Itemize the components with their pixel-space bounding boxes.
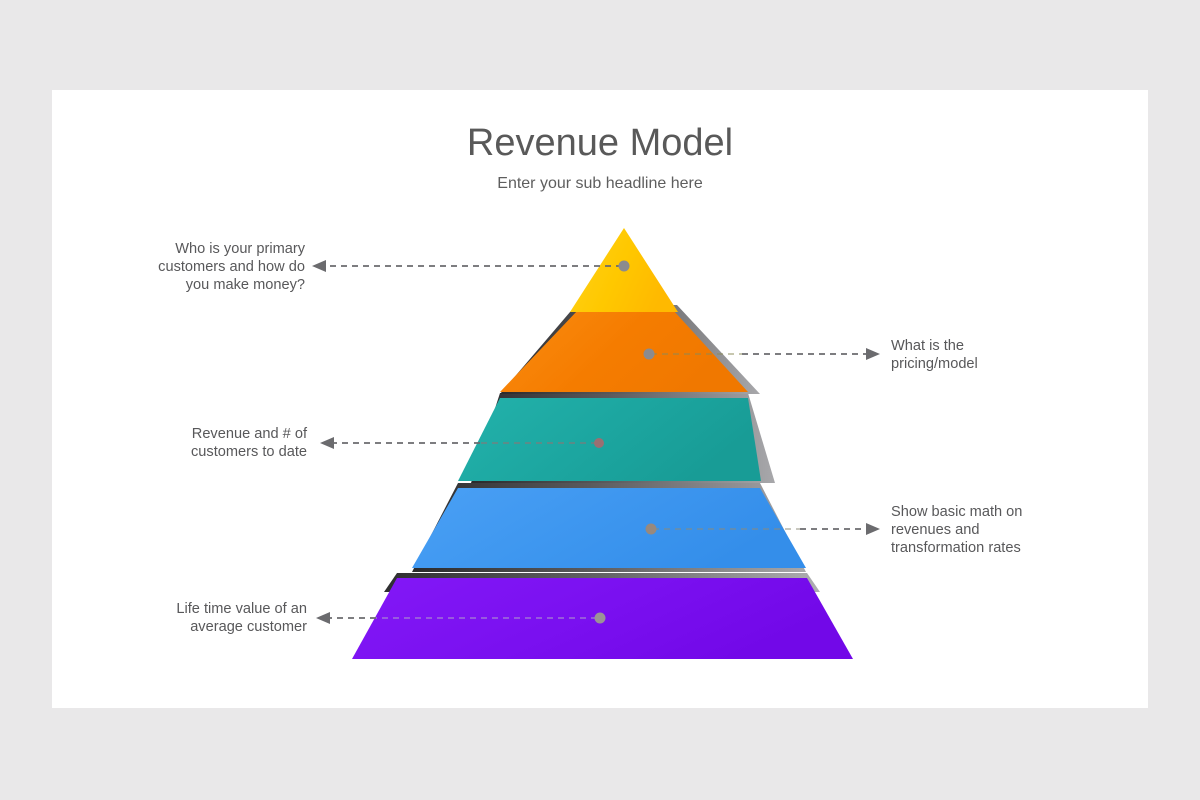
page-subtitle: Enter your sub headline here xyxy=(497,175,703,192)
callout-label-level-4: Show basic math on revenues and transfor… xyxy=(891,504,1022,556)
arrow-head-level-5 xyxy=(316,612,330,624)
callout-label-level-1: Who is your primary customers and how do… xyxy=(158,241,306,293)
arrow-head-level-2 xyxy=(866,348,880,360)
node-dot-level-1[interactable] xyxy=(619,261,630,272)
callout-label-level-5: Life time value of an average customer xyxy=(176,601,307,635)
callout-label-level-3: Revenue and # of customers to date xyxy=(191,426,308,460)
node-dot-level-3[interactable] xyxy=(594,438,604,448)
callout-level-3-line-1: Revenue and # of xyxy=(192,426,308,442)
revenue-model-diagram: Revenue Model Enter your sub headline he… xyxy=(0,0,1200,800)
arrow-head-level-3 xyxy=(320,437,334,449)
node-dot-level-2[interactable] xyxy=(644,349,655,360)
pyramid-level-4[interactable] xyxy=(412,488,806,568)
callout-level-5-line-1: Life time value of an xyxy=(176,601,307,617)
arrow-head-level-4 xyxy=(866,523,880,535)
arrow-head-level-1 xyxy=(312,260,326,272)
callout-level-4-line-2: revenues and xyxy=(891,522,979,538)
callout-label-level-2: What is the pricing/model xyxy=(891,338,978,372)
pyramid-level-3[interactable] xyxy=(458,398,761,481)
callout-level-1-line-1: Who is your primary xyxy=(175,241,305,257)
callout-level-5-line-2: average customer xyxy=(190,619,307,635)
callout-level-4-line-3: transformation rates xyxy=(891,540,1021,556)
callout-level-2-line-2: pricing/model xyxy=(891,356,978,372)
callout-level-1-line-3: you make money? xyxy=(186,277,305,293)
callout-level-2-line-1: What is the xyxy=(891,338,964,354)
page-title: Revenue Model xyxy=(467,122,733,164)
node-dot-level-4[interactable] xyxy=(646,524,657,535)
callout-level-4-line-1: Show basic math on xyxy=(891,504,1022,520)
callout-level-3-line-2: customers to date xyxy=(191,444,307,460)
callout-level-1-line-2: customers and how do xyxy=(158,259,305,275)
node-dot-level-5[interactable] xyxy=(595,613,606,624)
